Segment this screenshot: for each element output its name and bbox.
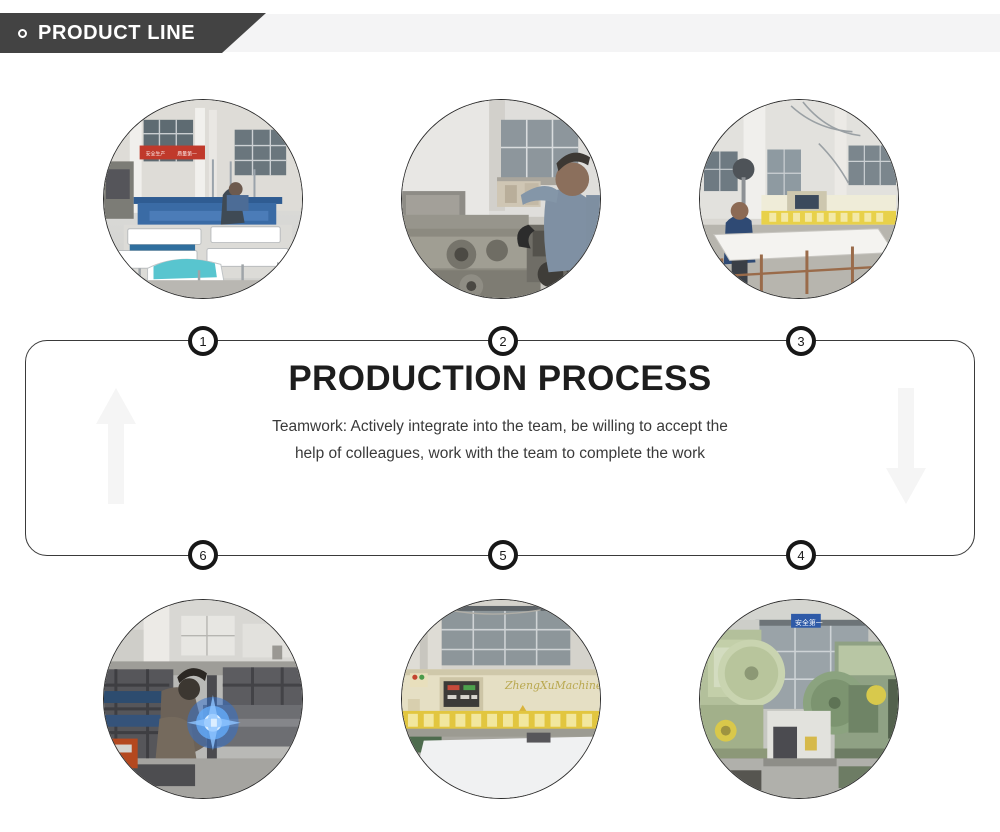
header-banner: PRODUCT LINE (0, 0, 1000, 66)
step-number-1: 1 (192, 330, 214, 352)
step-badge-5: 5 (488, 540, 518, 570)
step-badge-1: 1 (188, 326, 218, 356)
svg-text:安全生产: 安全生产 (146, 150, 166, 157)
process-description: Teamwork: Actively integrate into the te… (260, 413, 740, 467)
process-text-block: PRODUCTION PROCESS Teamwork: Actively in… (175, 360, 825, 467)
photo-shearing-machine-operator (699, 99, 899, 299)
step-number-5: 5 (492, 544, 514, 566)
svg-text:ZhengXuMachine: ZhengXuMachine (504, 679, 600, 692)
photo-lathe-operation (401, 99, 601, 299)
ring-bullet-icon (18, 29, 27, 38)
page-title: PRODUCT LINE (38, 22, 195, 45)
step-number-4: 4 (790, 544, 812, 566)
step-badge-4: 4 (786, 540, 816, 570)
photo-assembly-workshop: 安全生产质量第一 (103, 99, 303, 299)
process-title: PRODUCTION PROCESS (175, 360, 825, 399)
header-tab: PRODUCT LINE (0, 13, 266, 53)
step-badge-6: 6 (188, 540, 218, 570)
step-number-2: 2 (492, 330, 514, 352)
svg-text:安全第一: 安全第一 (795, 618, 823, 627)
step-number-3: 3 (790, 330, 812, 352)
photo-punch-press-machines: 安全第一 (699, 599, 899, 799)
svg-text:质量第一: 质量第一 (177, 150, 197, 157)
photo-cnc-shearing-machine: ZhengXuMachine (401, 599, 601, 799)
arrow-up-icon (94, 386, 138, 506)
step-number-6: 6 (192, 544, 214, 566)
step-badge-3: 3 (786, 326, 816, 356)
photo-welding-work (103, 599, 303, 799)
arrow-down-icon (884, 386, 928, 506)
step-badge-2: 2 (488, 326, 518, 356)
